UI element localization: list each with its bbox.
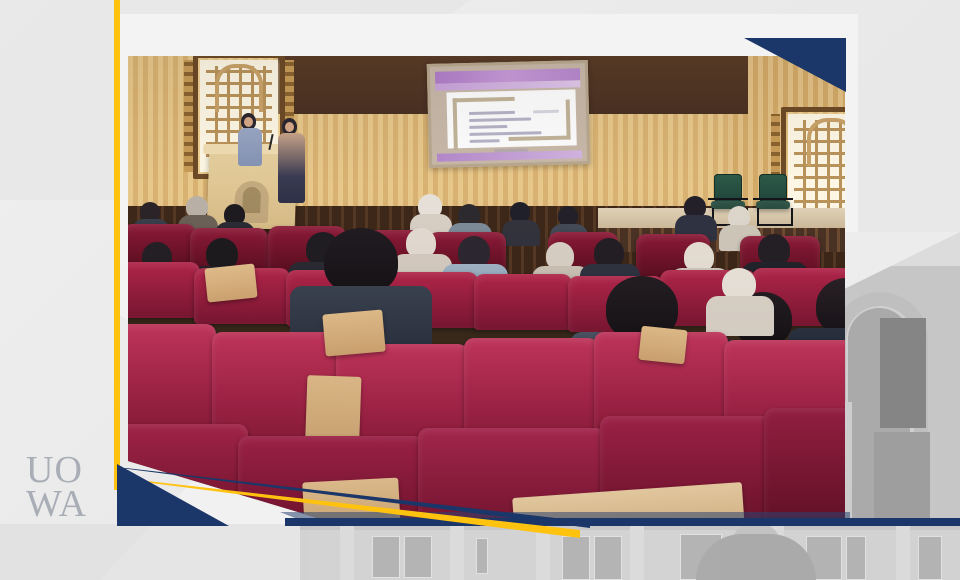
accent-yellow-vertical-bar: [114, 0, 120, 490]
folding-desk: [204, 263, 257, 302]
folding-desk: [638, 326, 687, 365]
accent-navy-bar: [285, 518, 960, 526]
campus-facade-watermark: [300, 522, 960, 580]
folding-desk: [322, 309, 385, 356]
projector-screen: [427, 60, 590, 168]
campus-facade-watermark-left: [0, 524, 310, 580]
auditorium-seat: [128, 262, 200, 318]
auditorium-seat: [764, 408, 845, 521]
banner-canvas: UO WA: [0, 0, 960, 580]
stage-chair-2: [753, 174, 793, 222]
auditorium-seat: [474, 274, 572, 330]
event-photo: [128, 56, 845, 521]
uowa-logo: UO WA: [26, 452, 116, 524]
uowa-logo-line-2: WA: [26, 486, 116, 522]
auditorium-seat: [128, 324, 216, 434]
campus-arch-watermark: [830, 232, 960, 524]
presentation-slide: [446, 89, 576, 148]
